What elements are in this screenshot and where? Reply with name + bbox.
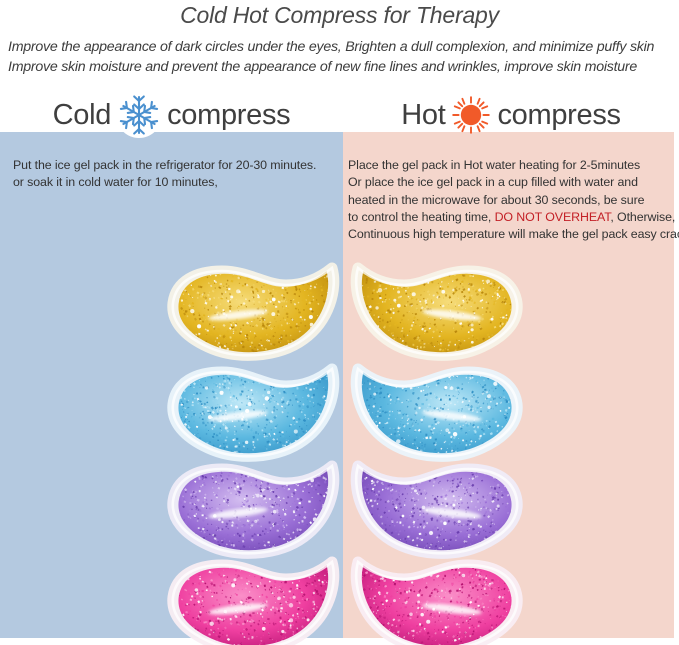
hot-section-heading: Hot	[343, 96, 679, 134]
hot-instruction-line-4: to control the heating time, DO NOT OVER…	[348, 209, 676, 226]
hot-instructions: Place the gel pack in Hot water heating …	[348, 157, 676, 243]
cold-pink-gel-pad	[166, 553, 341, 645]
cold-heading-word: Cold	[53, 98, 111, 132]
overheat-warning: DO NOT OVERHEAT	[495, 210, 611, 224]
hot-gold-gel-pad	[349, 259, 524, 363]
hot-instruction-line-5: Continuous high temperature will make th…	[348, 226, 676, 243]
hot-instruction-line-2: Or place the ice gel pack in a cup fille…	[348, 174, 676, 191]
page-title: Cold Hot Compress for Therapy	[0, 0, 679, 30]
snowflake-icon	[116, 92, 162, 138]
hot-instruction-line-3: heated in the microwave for about 30 sec…	[348, 192, 676, 209]
product-infographic: Cold Hot Compress for Therapy Improve th…	[0, 0, 679, 645]
cold-instruction-line-2: or soak it in cold water for 10 minutes,	[13, 174, 338, 191]
subtitle-line-2: Improve skin moisture and prevent the ap…	[8, 57, 674, 77]
cold-section-heading: Cold	[0, 96, 343, 134]
hot-instruction-line-1: Place the gel pack in Hot water heating …	[348, 157, 676, 174]
hot-instruction-line-4-tail: , Otherwise,	[610, 210, 675, 224]
cold-instructions: Put the ice gel pack in the refrigerator…	[13, 157, 338, 192]
cold-blue-gel-pad	[166, 360, 341, 464]
hot-heading-word: Hot	[401, 98, 445, 132]
subtitle-block: Improve the appearance of dark circles u…	[8, 37, 674, 77]
hot-purple-gel-pad	[349, 457, 524, 561]
sun-icon	[450, 94, 492, 136]
hot-heading-compress: compress	[497, 98, 620, 132]
subtitle-line-1: Improve the appearance of dark circles u…	[8, 37, 674, 57]
hot-instruction-line-4-text: to control the heating time,	[348, 210, 495, 224]
cold-gold-gel-pad	[166, 259, 341, 363]
hot-blue-gel-pad	[349, 360, 524, 464]
cold-purple-gel-pad	[166, 457, 341, 561]
cold-instruction-line-1: Put the ice gel pack in the refrigerator…	[13, 157, 338, 174]
cold-heading-compress: compress	[167, 98, 290, 132]
hot-pink-gel-pad	[349, 553, 524, 645]
